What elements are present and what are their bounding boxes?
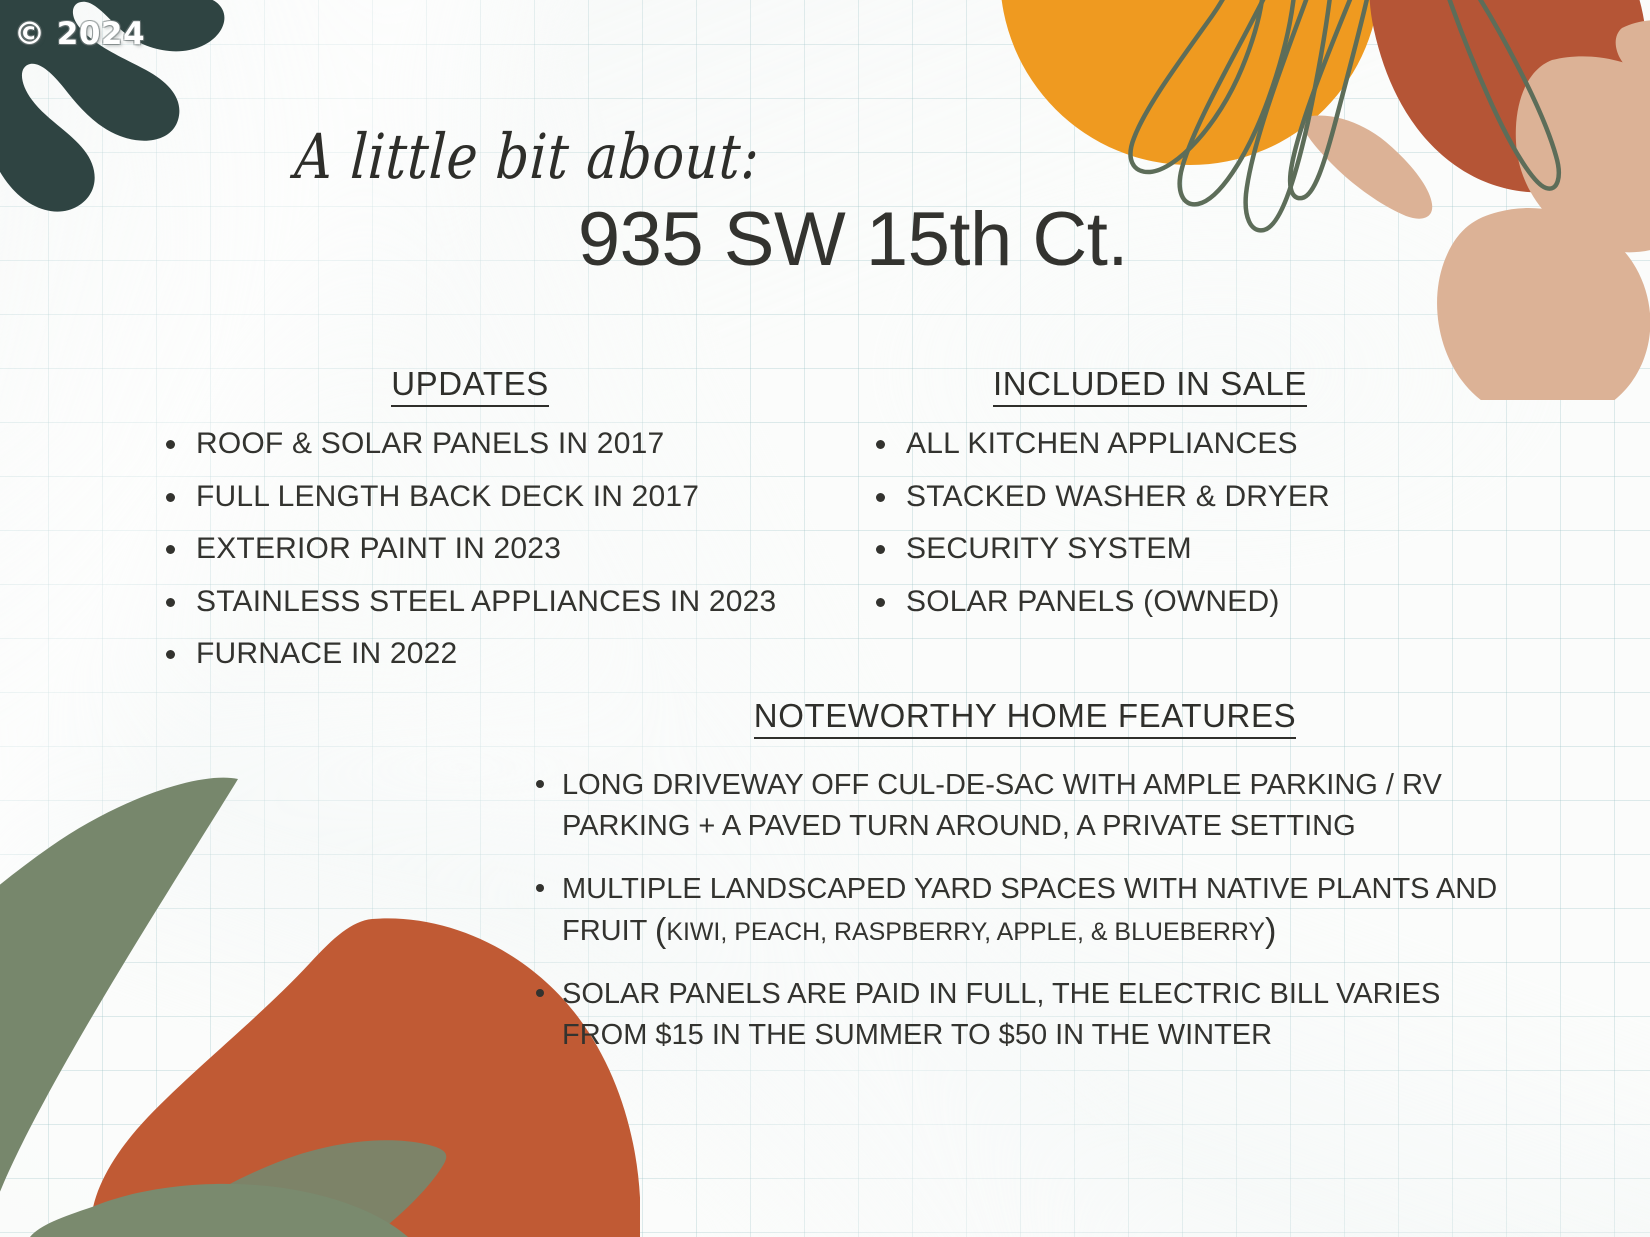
included-in-sale-list: ALL KITCHEN APPLIANCES STACKED WASHER & … [860, 427, 1440, 618]
list-item: SECURITY SYSTEM [860, 532, 1440, 566]
list-item-detail: KIWI, PEACH, RASPBERRY, APPLE, & BLUEBER… [666, 918, 1265, 946]
list-item: MULTIPLE LANDSCAPED YARD SPACES WITH NAT… [520, 869, 1530, 951]
section-heading-included-in-sale: INCLUDED IN SALE [860, 365, 1440, 403]
list-item: STACKED WASHER & DRYER [860, 480, 1440, 514]
section-heading-updates: UPDATES [150, 365, 790, 403]
list-item: LONG DRIVEWAY OFF CUL-DE-SAC WITH AMPLE … [520, 765, 1530, 847]
open-paren: ( [655, 912, 666, 950]
section-heading-included-in-sale-text: INCLUDED IN SALE [993, 365, 1307, 407]
section-heading-noteworthy-text: NOTEWORTHY HOME FEATURES [754, 697, 1296, 739]
list-item: ALL KITCHEN APPLIANCES [860, 427, 1440, 461]
flyer-content: A little bit about: 935 SW 15th Ct. UPDA… [0, 0, 1650, 1237]
list-item: SOLAR PANELS (OWNED) [860, 585, 1440, 619]
section-heading-updates-text: UPDATES [391, 365, 549, 407]
list-item: EXTERIOR PAINT IN 2023 [150, 532, 790, 566]
list-item: SOLAR PANELS ARE PAID IN FULL, THE ELECT… [520, 974, 1530, 1056]
section-noteworthy-home-features: NOTEWORTHY HOME FEATURES LONG DRIVEWAY O… [520, 697, 1530, 1078]
script-subtitle: A little bit about: [293, 126, 1040, 188]
list-item: ROOF & SOLAR PANELS IN 2017 [150, 427, 790, 461]
list-item: FULL LENGTH BACK DECK IN 2017 [150, 480, 790, 514]
updates-list: ROOF & SOLAR PANELS IN 2017 FULL LENGTH … [150, 427, 790, 671]
section-heading-noteworthy: NOTEWORTHY HOME FEATURES [520, 697, 1530, 735]
title-block: A little bit about: 935 SW 15th Ct. [0, 126, 1180, 278]
copyright-watermark: © 2024 [14, 16, 145, 52]
section-included-in-sale: INCLUDED IN SALE ALL KITCHEN APPLIANCES … [860, 365, 1440, 637]
list-item: FURNACE IN 2022 [150, 637, 790, 671]
flyer-page: © 2024 A little bit about: 935 SW 15th C… [0, 0, 1650, 1237]
noteworthy-list: LONG DRIVEWAY OFF CUL-DE-SAC WITH AMPLE … [520, 765, 1530, 1056]
page-title: 935 SW 15th Ct. [0, 202, 1180, 278]
section-updates: UPDATES ROOF & SOLAR PANELS IN 2017 FULL… [150, 365, 790, 690]
close-paren: ) [1265, 912, 1276, 950]
list-item: STAINLESS STEEL APPLIANCES IN 2023 [150, 585, 790, 619]
